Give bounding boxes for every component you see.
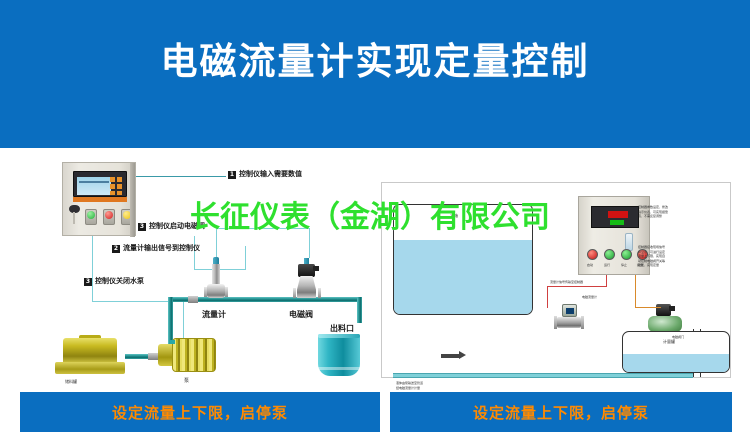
page-root: 电磁流量计实现定量控制 1控制仪输入需要数值 [0,0,750,436]
pipe-outlet-drop [357,297,362,323]
gate-valve-icon[interactable] [165,320,177,336]
annotation-2-number: 2 [112,245,120,253]
flowmeter-neck [212,264,220,286]
annotation-1-text: 控制仪输入需要数值 [239,170,302,178]
header-banner: 电磁流量计实现定量控制 [0,0,750,148]
measuring-tank-fill [623,354,729,372]
source-tank: 储料罐 [55,338,125,376]
annotation-2: 2流量计输出信号到控制仪 [112,244,200,253]
annotation-1-number: 1 [228,171,236,179]
flowmeter-flange-right [225,287,228,297]
tank-body [63,338,117,364]
cabinet-right-button-1[interactable] [587,249,598,260]
bottom-banner-left: 设定流量上下限，启停泵 [20,392,380,432]
bucket-rim [318,334,360,338]
cabinet-door-edge [130,163,135,237]
pipe-coupler-2 [148,353,158,360]
outlet-label: 出料口 [330,324,354,333]
flowmeter-device[interactable] [207,257,225,303]
cabinet-right-button-3[interactable] [621,249,632,260]
flowmeter-window [566,308,574,314]
signal-wire-flowmeter-v [194,236,195,270]
annotation-3a-number: 3 [138,223,146,231]
digital-display [591,206,639,228]
bottom-banner-right-text: 设定流量上下限，启停泵 [473,402,649,423]
valve-flange-left [293,288,296,298]
solenoid-valve-body-right [648,316,682,332]
controller-display [73,171,127,197]
electromagnetic-flowmeter[interactable] [554,304,584,332]
cabinet-right-button-2[interactable] [604,249,615,260]
display-accent-bar [73,197,127,202]
valve-control-wire-v [635,275,636,308]
note-valve: 电磁阀门 [672,335,684,339]
note-flowmeter-signal: 流量计信号传输至控制器 [550,280,583,284]
pipe-coupler-1 [188,296,198,303]
flow-arrow-1-bar [441,354,459,358]
signal-wire-flowmeter-up [245,246,246,270]
cabinet-right-button-3-label: 停止 [621,263,627,267]
annotation-3b-number: 3 [84,278,92,286]
bottom-banner-left-text: 设定流量上下限，启停泵 [112,402,288,423]
flowmeter-label: 流量计 [202,310,226,319]
rotary-knob-icon[interactable] [69,205,80,213]
flowmeter-body [207,284,225,298]
pump-caption: 泵 [184,377,189,384]
note-top-right: 控制器参数设定、修改指示仪表、可实现报警值、不需反复调整 [638,205,702,219]
flowmeter-signal-wire-v [547,286,548,308]
annotation-3b-text: 控制仪关闭水泵 [95,277,144,285]
flowmeter-signal-wire-up [606,275,607,287]
note-flowmeter-name: 电磁流量计 [582,295,597,299]
bottom-banner-right: 设定流量上下限，启停泵 [390,392,732,432]
cabinet-button-red[interactable] [103,209,115,225]
flowmeter-flange-left [204,287,207,297]
flowmeter-flange-b [581,316,584,329]
measuring-tank-label: 计量罐 [663,339,675,345]
leader-line-1 [136,176,226,177]
company-watermark: 长征仪表（金湖）有限公司 [190,192,550,236]
keypad-icon[interactable] [110,177,123,195]
note-pipe: 液体由泵输送至管道经电磁流量计计量 [396,381,468,390]
solenoid-valve-label: 电磁阀 [289,310,313,319]
solenoid-connector-right-icon [669,306,675,311]
note-mid-right: 控制器接收现场信号并显示、可进行设定流量上下限、实现自动控制电磁阀开关等功能、实… [638,245,702,268]
annotation-1: 1控制仪输入需要数值 [228,170,302,179]
water-tank-fill [394,240,532,314]
display-red-readout [608,211,628,218]
signal-wire-pump-v [92,236,93,302]
annotation-2-text: 流量计输出信号到控制仪 [123,244,200,252]
flow-arrow-1 [459,351,466,359]
flowmeter-tube [557,317,581,328]
flowmeter-signal-wire-h [547,286,607,287]
tank-caption: 储料罐 [65,379,77,385]
pump-motor [172,338,216,372]
flowmeter-converter [562,304,577,317]
page-title: 电磁流量计实现定量控制 [0,40,750,84]
outlet-bucket [318,334,360,376]
valve-body [297,276,316,298]
cabinet-right-button-1-label: 启动 [587,263,593,267]
bucket-band [318,367,360,370]
cabinet-button-green[interactable] [85,209,97,225]
valve-connector-icon [313,266,319,271]
pump-inlet-port [170,340,175,344]
solenoid-valve-device[interactable] [295,258,319,303]
display-green-readout [610,220,624,225]
left-control-cabinet[interactable] [62,162,136,236]
lcd-screen [77,177,111,195]
cabinet-right-button-2-label: 运行 [604,263,610,267]
flowmeter-flange-a [554,316,557,329]
annotation-3b: 3控制仪关闭水泵 [84,277,144,286]
solenoid-valve-right[interactable] [648,304,682,334]
main-pipe [393,373,693,378]
valve-flange-right [318,288,321,298]
pump-device: 泵 [158,336,218,376]
valve-control-wire-h [635,307,661,308]
tank-base [55,362,125,374]
